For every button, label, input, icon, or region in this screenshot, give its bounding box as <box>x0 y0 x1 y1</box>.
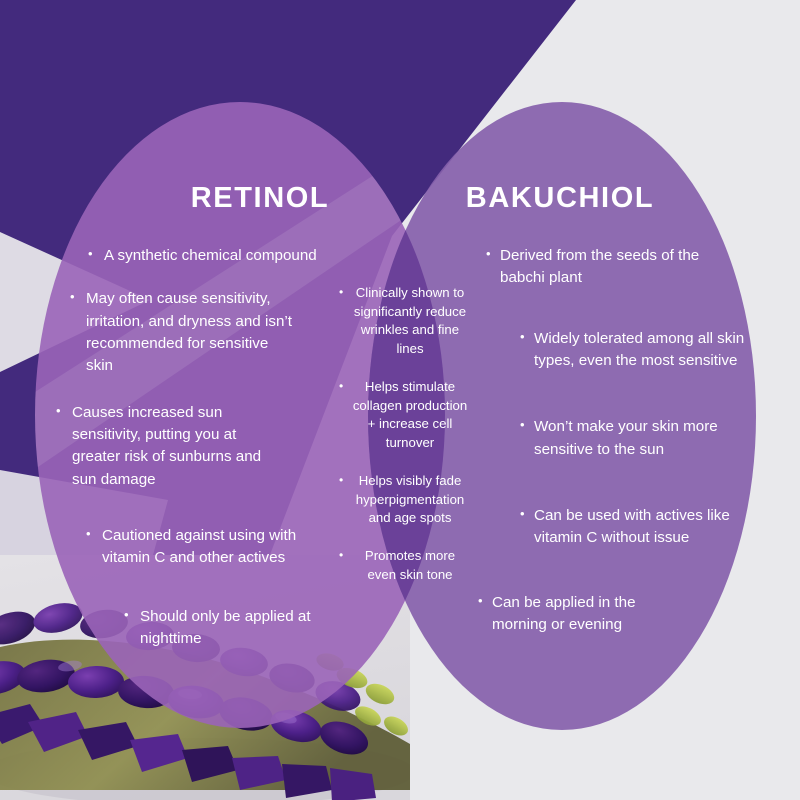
venn-left-title: RETINOL <box>110 182 410 215</box>
list-item: Won’t make your skin more sensitive to t… <box>534 416 742 461</box>
venn-right-title: BAKUCHIOL <box>400 182 720 215</box>
venn-left-bullet-list: A synthetic chemical compound May often … <box>70 245 348 671</box>
list-item: Clinically shown to significantly reduce… <box>352 284 468 359</box>
infographic-canvas: RETINOL BAKUCHIOL A synthetic chemical c… <box>0 0 800 800</box>
list-item: Promotes more even skin tone <box>352 547 468 584</box>
list-item: Helps stimulate collagen production + in… <box>352 378 468 453</box>
list-item: Helps visibly fade hyperpigmentation and… <box>352 472 468 528</box>
list-item: Cautioned against using with vitamin C a… <box>100 525 340 570</box>
list-item: Widely tolerated among all skin types, e… <box>534 328 746 373</box>
list-item: Causes increased sun sensitivity, puttin… <box>70 402 282 491</box>
list-item: A synthetic chemical compound <box>102 245 348 267</box>
list-item: Should only be applied at nighttime <box>138 606 348 651</box>
venn-right-bullet-list: Derived from the seeds of the babchi pla… <box>500 245 750 657</box>
list-item: Can be applied in the morning or evening <box>492 592 692 637</box>
list-item: May often cause sensitivity, irritation,… <box>84 288 298 377</box>
list-item: Derived from the seeds of the babchi pla… <box>500 245 724 290</box>
list-item: Can be used with actives like vitamin C … <box>534 505 740 550</box>
venn-shared-bullet-list: Clinically shown to significantly reduce… <box>352 284 468 604</box>
